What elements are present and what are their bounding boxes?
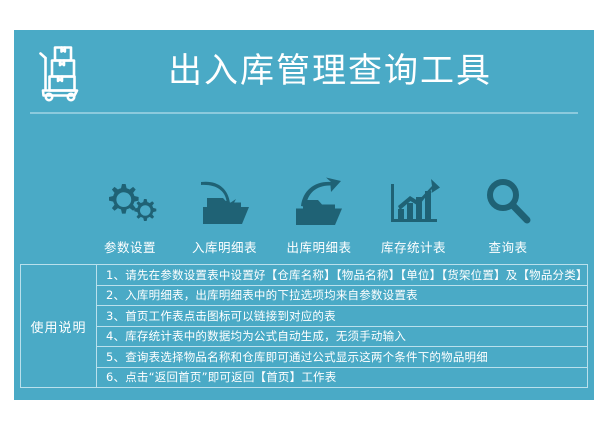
table-row: 5、查询表选择物品名称和仓库即可通过公式显示这两个条件下的物品明细 <box>97 347 588 368</box>
page-title: 出入库管理查询工具 <box>110 30 550 112</box>
hand-truck-boxes-icon <box>28 40 90 102</box>
shortcut-inbound-detail[interactable]: 入库明细表 <box>179 172 271 256</box>
magnifier-icon <box>482 172 534 228</box>
shortcut-parameter-settings[interactable]: 参数设置 <box>84 172 176 256</box>
folder-in-arrow-icon <box>197 172 253 228</box>
app-screen: 出入库管理查询工具 参数设置 <box>0 0 606 432</box>
instructions-rows: 1、请先在参数设置表中设置好【仓库名称】【物品名称】【单位】【货架位置】及【物品… <box>97 265 588 387</box>
instructions-table: 使用说明 1、请先在参数设置表中设置好【仓库名称】【物品名称】【单位】【货架位置… <box>20 264 588 388</box>
folder-out-arrow-icon <box>291 172 347 228</box>
table-row: 3、首页工作表点击图标可以链接到对应的表 <box>97 306 588 327</box>
shortcut-label: 参数设置 <box>104 237 156 256</box>
table-row: 6、点击“返回首页”即可返回【首页】工作表 <box>97 368 588 388</box>
shortcut-row: 参数设置 入库明细表 <box>84 156 554 256</box>
bar-chart-trend-icon <box>385 172 443 228</box>
home-dashboard-panel: 出入库管理查询工具 参数设置 <box>14 30 594 400</box>
shortcut-label: 入库明细表 <box>192 237 257 256</box>
header-divider <box>30 112 578 114</box>
shortcut-inventory-statistics[interactable]: 库存统计表 <box>368 172 460 256</box>
table-row: 2、入库明细表，出库明细表中的下拉选项均来自参数设置表 <box>97 286 588 307</box>
shortcut-query-table[interactable]: 查询表 <box>462 172 554 256</box>
shortcut-outbound-detail[interactable]: 出库明细表 <box>273 172 365 256</box>
table-row: 1、请先在参数设置表中设置好【仓库名称】【物品名称】【单位】【货架位置】及【物品… <box>97 265 588 286</box>
instructions-label: 使用说明 <box>21 265 97 387</box>
gears-icon <box>100 172 160 228</box>
shortcut-label: 出库明细表 <box>286 237 351 256</box>
shortcut-label: 查询表 <box>488 237 527 256</box>
shortcut-label: 库存统计表 <box>381 237 446 256</box>
table-row: 4、库存统计表中的数据均为公式自动生成，无须手动输入 <box>97 327 588 348</box>
header: 出入库管理查询工具 <box>14 30 594 112</box>
